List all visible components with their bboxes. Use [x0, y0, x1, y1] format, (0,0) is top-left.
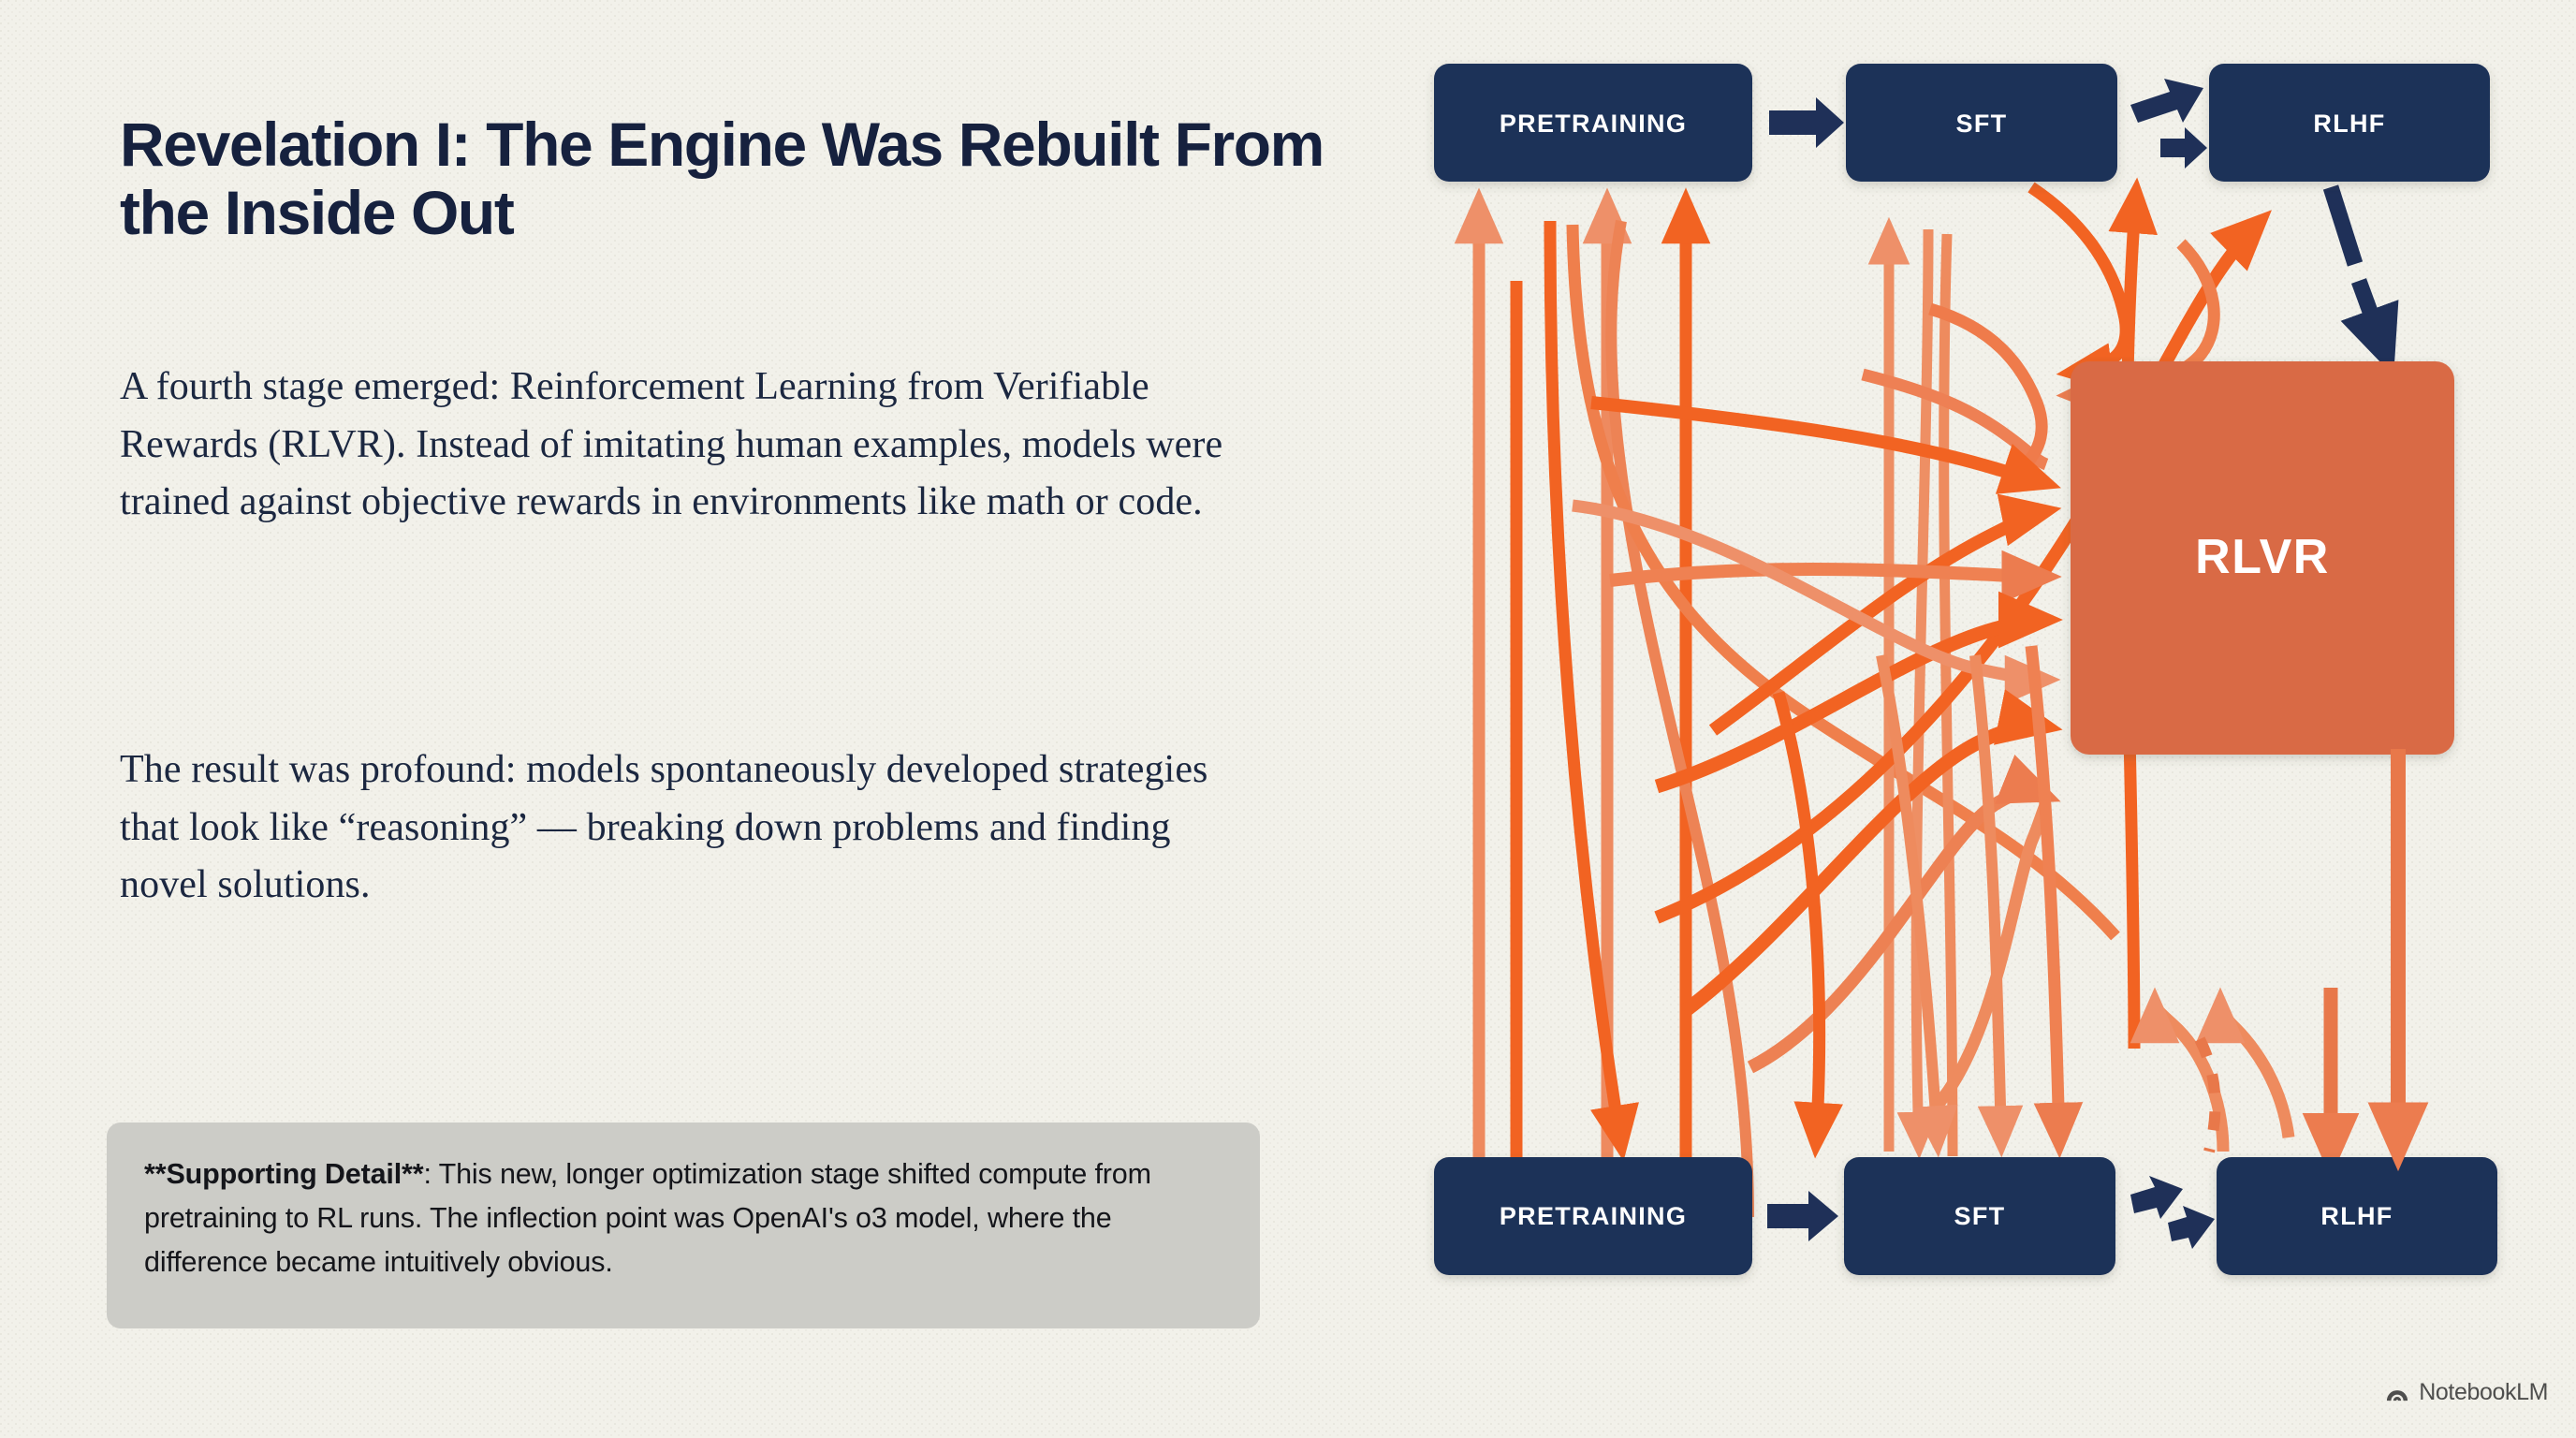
supporting-detail-text: **Supporting Detail**: This new, longer … — [144, 1152, 1222, 1284]
node-label-bottom-pretraining: PRETRAINING — [1500, 1202, 1687, 1230]
slide-root: Revelation I: The Engine Was Rebuilt Fro… — [0, 0, 2576, 1438]
watermark-label: NotebookLM — [2419, 1379, 2548, 1406]
node-label-top-pretraining: PRETRAINING — [1500, 110, 1687, 138]
node-label-rlvr: RLVR — [2195, 530, 2330, 584]
diagram-panel: PRETRAINING SFT RLHF RLVR PRETRAINING SF… — [1376, 0, 2576, 1438]
pipeline-diagram: PRETRAINING SFT RLHF RLVR PRETRAINING SF… — [1376, 0, 2576, 1438]
watermark: NotebookLM — [2384, 1379, 2548, 1406]
body-paragraph-1: A fourth stage emerged: Reinforcement Le… — [120, 359, 1243, 532]
page-title: Revelation I: The Engine Was Rebuilt Fro… — [120, 110, 1327, 246]
left-content-panel: Revelation I: The Engine Was Rebuilt Fro… — [0, 0, 1376, 1438]
body-paragraph-2: The result was profound: models spontane… — [120, 741, 1243, 915]
node-label-bottom-rlhf: RLHF — [2320, 1202, 2393, 1230]
node-label-bottom-sft: SFT — [1954, 1202, 2006, 1230]
node-label-top-sft: SFT — [1956, 110, 2008, 138]
node-label-top-rlhf: RLHF — [2313, 110, 2385, 138]
supporting-detail-lead: **Supporting Detail** — [144, 1158, 424, 1190]
supporting-detail-box: **Supporting Detail**: This new, longer … — [107, 1123, 1260, 1328]
notebooklm-spiral-icon — [2384, 1380, 2410, 1406]
